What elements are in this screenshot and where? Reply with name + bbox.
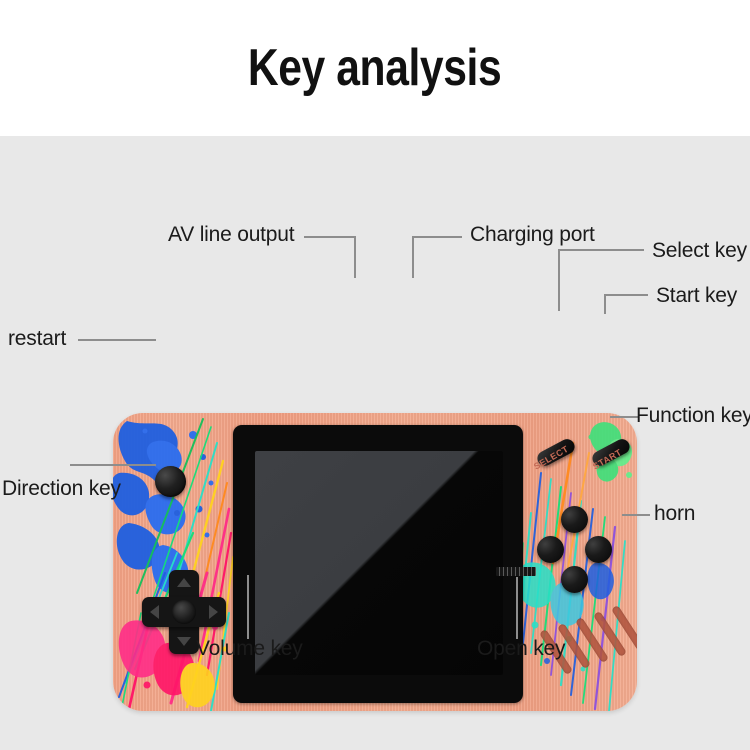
leader-charging-vertical [412,236,414,278]
callout-label-start-key: Start key [656,284,737,308]
game-console-device: SELECT START [113,413,637,711]
callout-label-charging-port: Charging port [470,223,595,247]
function-key-button[interactable] [585,536,612,563]
leader-open-key [516,577,518,639]
dpad-left-arrow-icon [150,605,159,619]
callout-label-volume-key: Volume key [196,637,303,661]
paint-splatter-left-graphic [113,413,247,711]
leader-horn [622,514,650,516]
leader-volume-key [247,575,249,639]
dpad-up-arrow-icon [177,578,191,587]
dpad-center [172,600,196,624]
diagram-panel: SELECT START [0,136,750,750]
screen-bezel [233,425,523,703]
page-title: Key analysis [248,38,501,98]
leader-select-vertical [558,249,560,311]
restart-button[interactable] [155,466,186,497]
callout-label-select-key: Select key [652,239,747,263]
dpad-right-arrow-icon [209,605,218,619]
callout-label-open-key: Open key [477,637,565,661]
callout-label-restart: restart [8,327,66,351]
action-button-bottom[interactable] [561,566,588,593]
action-button-top[interactable] [561,506,588,533]
leader-charging-horizontal [412,236,462,238]
action-button-left[interactable] [537,536,564,563]
leader-function-key [610,416,638,418]
header-bar: Key analysis [0,0,750,136]
leader-select-horizontal [558,249,644,251]
callout-label-function-key: Function key [636,404,750,428]
leader-start-horizontal [604,294,648,296]
leader-av-line-horizontal [304,236,356,238]
leader-av-line-vertical [354,236,356,278]
callout-label-horn: horn [654,502,695,526]
open-key-switch[interactable] [496,567,536,576]
leader-restart [78,339,156,341]
callout-label-av-line-output: AV line output [168,223,294,247]
leader-direction-key [70,464,156,466]
screenshot-root: Key analysis [0,0,750,750]
leader-start-vertical [604,294,606,314]
callout-label-direction-key: Direction key [2,477,121,501]
dpad-down-arrow-icon [177,637,191,646]
